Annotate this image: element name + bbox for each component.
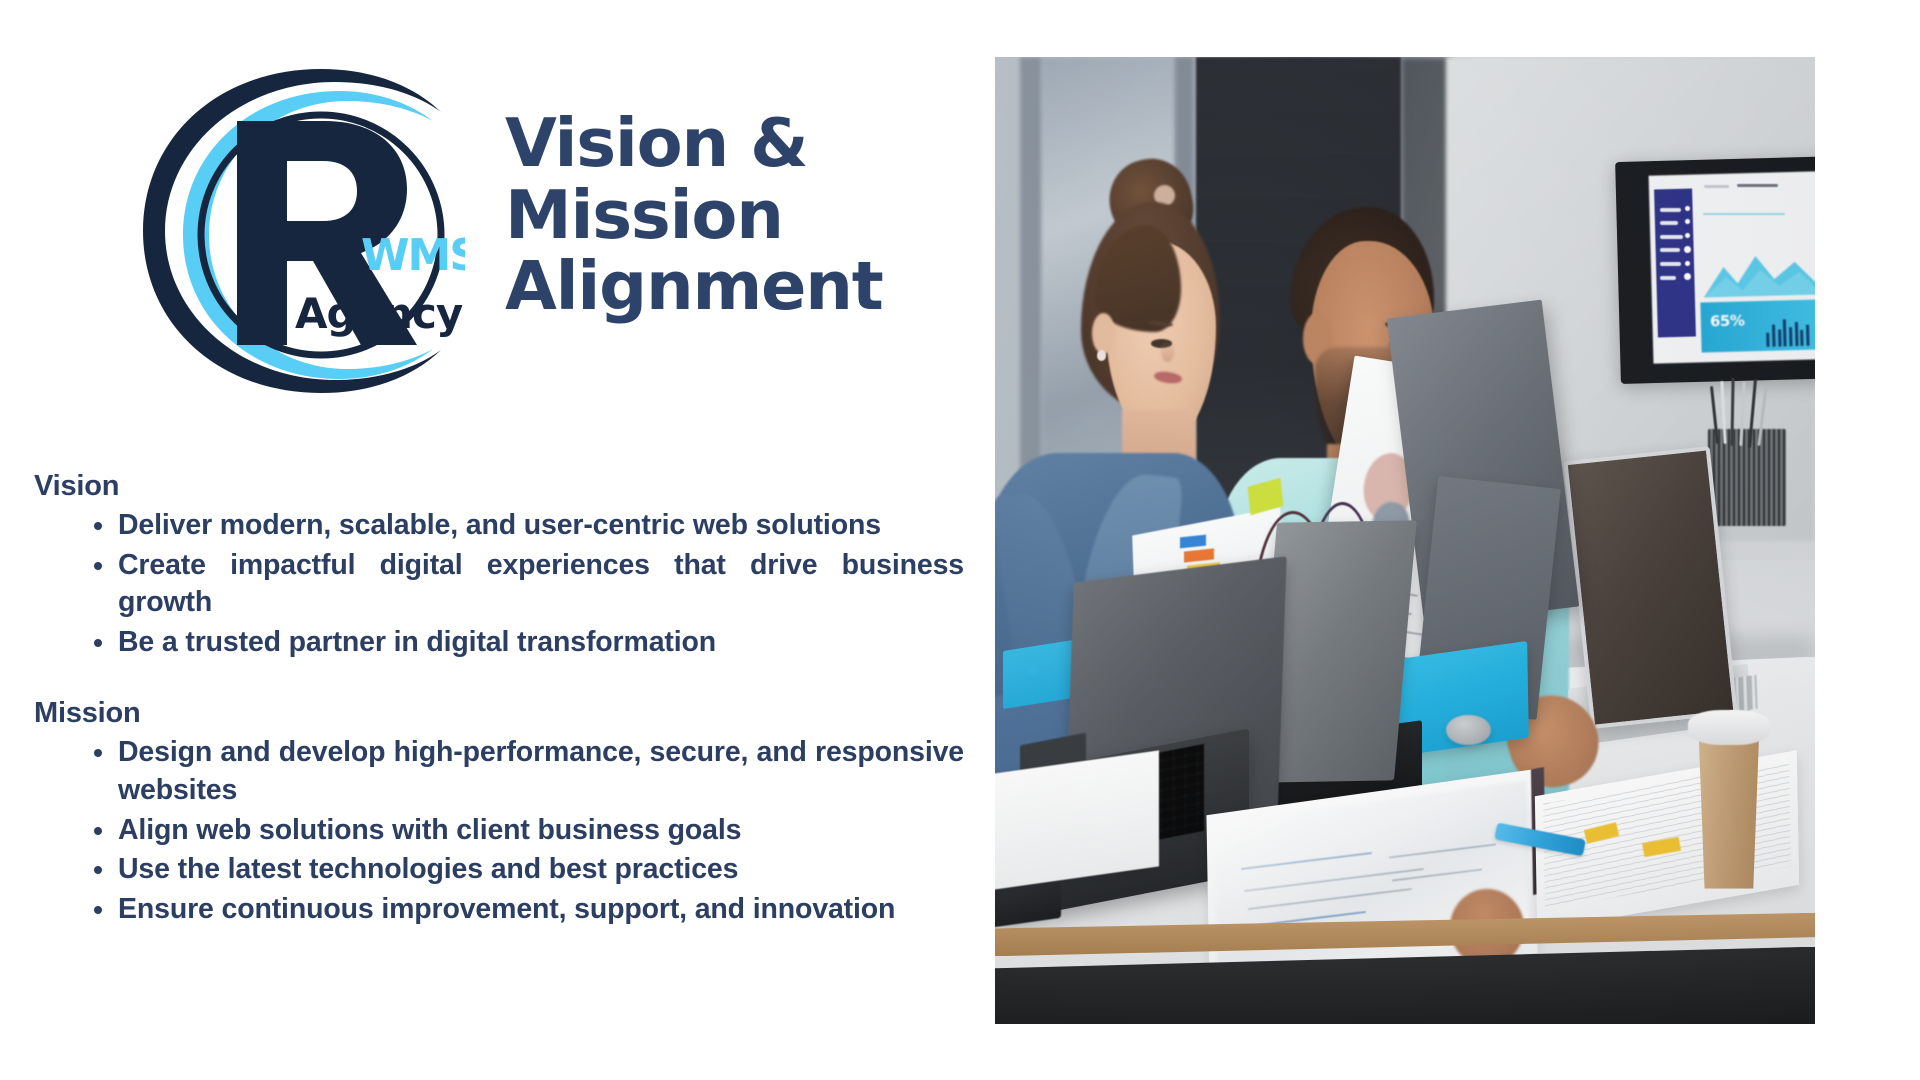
dashboard-bullet-dot: [1685, 233, 1690, 238]
dashboard-divider: [1703, 213, 1785, 215]
mission-bullet-list: Design and develop high-performance, sec…: [34, 734, 964, 928]
area-chart-svg: [1702, 244, 1815, 297]
section-vision: Vision Deliver modern, scalable, and use…: [34, 470, 964, 661]
dashboard-bullet-dot: [1685, 206, 1690, 211]
list-item: Align web solutions with client business…: [90, 812, 964, 850]
woman-ear: [1092, 313, 1115, 354]
content-body: Vision Deliver modern, scalable, and use…: [34, 470, 964, 930]
dashboard-menu-row: [1660, 262, 1681, 266]
dashboard-header-line: [1704, 185, 1729, 188]
list-item: Ensure continuous improvement, support, …: [90, 891, 964, 929]
list-item: Create impactful digital experiences tha…: [90, 547, 964, 622]
list-item: Be a trusted partner in digital transfor…: [90, 624, 964, 662]
dashboard-bullet-dot: [1685, 261, 1690, 266]
vision-bullet-list: Deliver modern, scalable, and user-centr…: [34, 507, 964, 661]
slide-canvas: WMS Agency Vision & Mission Alignment Vi…: [0, 0, 1920, 1080]
dashboard-menu-row: [1660, 208, 1681, 212]
list-item: Deliver modern, scalable, and user-centr…: [90, 507, 964, 545]
title-line-1: Vision &: [505, 108, 975, 180]
dashboard-menu-row: [1660, 221, 1678, 225]
dashboard-header-line: [1737, 184, 1778, 187]
coffee-cup-front-lid: [1688, 710, 1770, 745]
woman-nose: [1161, 340, 1174, 361]
dashboard-menu-row: [1660, 248, 1680, 252]
logo-agency-text: Agency: [295, 289, 463, 338]
rwms-agency-logo: WMS Agency: [125, 55, 465, 405]
sticky-flag-blue: [1180, 534, 1206, 547]
logo-svg: WMS Agency: [125, 55, 465, 405]
section-heading-vision: Vision: [34, 470, 964, 503]
logo-wms-text: WMS: [361, 230, 465, 281]
section-mission: Mission Design and develop high-performa…: [34, 697, 964, 928]
dashboard-menu-row: [1660, 235, 1683, 239]
silver-laptop-screen: [1564, 447, 1739, 730]
dashboard-percent-label: 65%: [1710, 312, 1745, 331]
dashboard-menu-row: [1660, 276, 1676, 280]
woman-earring: [1097, 350, 1106, 361]
section-spacer: [34, 663, 964, 697]
page-title: Vision & Mission Alignment: [505, 108, 975, 323]
office-teamwork-photo: 65%: [995, 57, 1815, 1024]
list-item: Use the latest technologies and best pra…: [90, 851, 964, 889]
list-item: Design and develop high-performance, sec…: [90, 734, 964, 809]
title-line-3: Alignment: [505, 251, 975, 323]
section-heading-mission: Mission: [34, 697, 964, 730]
dashboard-area-chart: [1702, 244, 1815, 297]
title-line-2: Mission: [505, 180, 975, 252]
